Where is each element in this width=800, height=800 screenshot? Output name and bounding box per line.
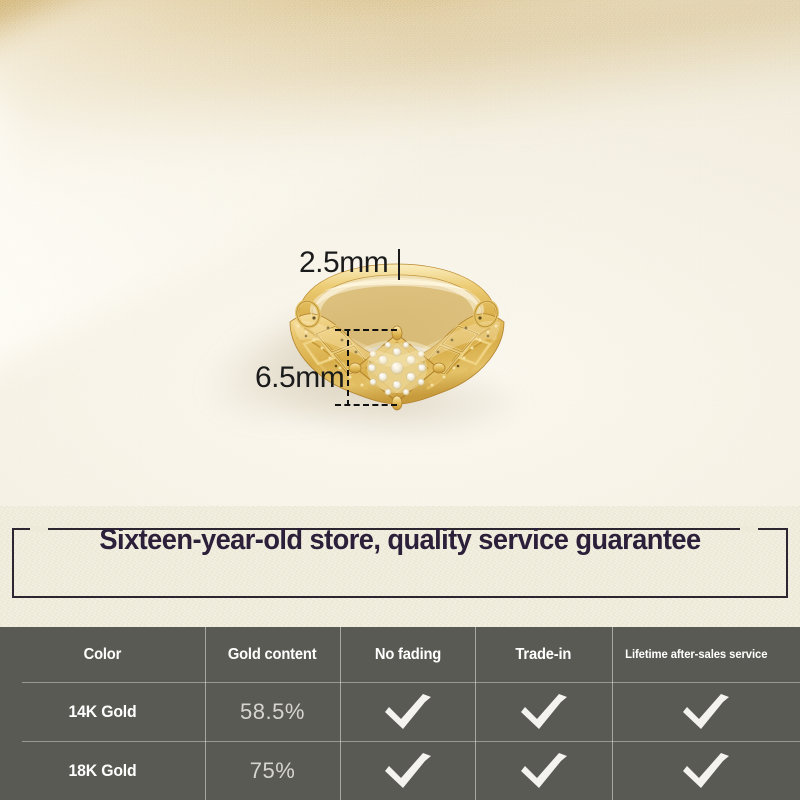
header-cell-gold-content: Gold content bbox=[205, 627, 340, 682]
gold-comparison-table: Color Gold content No fading Trade-in Li… bbox=[0, 627, 800, 800]
banner-headline: Sixteen-year-old store, quality service … bbox=[24, 524, 776, 557]
cell-lifetime-service-18k bbox=[612, 741, 800, 800]
header-cell-color: Color bbox=[0, 627, 205, 682]
header-label-gold-content: Gold content bbox=[228, 646, 317, 664]
cell-gold-content-18k: 75% bbox=[205, 741, 340, 800]
dimension-tick-width bbox=[398, 249, 400, 280]
cell-color-18k: 18K Gold bbox=[0, 741, 205, 800]
cell-gold-content-14k: 58.5% bbox=[205, 682, 340, 741]
check-mark-icon bbox=[518, 751, 570, 791]
header-label-trade-in: Trade-in bbox=[516, 646, 572, 664]
table-row: 18K Gold 75% bbox=[0, 741, 800, 800]
dimension-guide-vertical bbox=[347, 330, 349, 406]
check-mark-icon bbox=[680, 751, 732, 791]
cell-no-fading-14k bbox=[340, 682, 475, 741]
dimension-guide-bottom bbox=[335, 404, 397, 406]
header-cell-trade-in: Trade-in bbox=[475, 627, 612, 682]
row-label-14k: 14K Gold bbox=[69, 702, 137, 722]
check-mark-icon bbox=[518, 692, 570, 732]
header-label-color: Color bbox=[84, 646, 122, 664]
cell-trade-in-18k bbox=[475, 741, 612, 800]
table-header-row: Color Gold content No fading Trade-in Li… bbox=[0, 627, 800, 682]
cell-lifetime-service-14k bbox=[612, 682, 800, 741]
check-mark-icon bbox=[382, 751, 434, 791]
cell-no-fading-18k bbox=[340, 741, 475, 800]
product-photo: 2.5mm 6.5mm bbox=[0, 0, 800, 506]
header-cell-lifetime-service: Lifetime after-sales service bbox=[612, 627, 800, 682]
cell-trade-in-14k bbox=[475, 682, 612, 741]
dimension-label-height: 6.5mm bbox=[255, 361, 344, 395]
header-label-lifetime-service: Lifetime after-sales service bbox=[612, 647, 789, 662]
dimension-label-width: 2.5mm bbox=[299, 246, 388, 280]
table-row: 14K Gold 58.5% bbox=[0, 682, 800, 741]
header-cell-no-fading: No fading bbox=[340, 627, 475, 682]
header-label-no-fading: No fading bbox=[374, 646, 440, 664]
product-detail-page: 2.5mm 6.5mm Sixteen-year-old store, qual… bbox=[0, 0, 800, 800]
check-mark-icon bbox=[680, 692, 732, 732]
cell-color-14k: 14K Gold bbox=[0, 682, 205, 741]
comparison-table: Color Gold content No fading Trade-in Li… bbox=[0, 627, 800, 800]
check-mark-icon bbox=[382, 692, 434, 732]
value-gold-content-18k: 75% bbox=[250, 758, 296, 783]
row-label-18k: 18K Gold bbox=[69, 761, 137, 781]
ring-image bbox=[252, 248, 542, 438]
guarantee-banner: Sixteen-year-old store, quality service … bbox=[0, 506, 800, 627]
dimension-guide-top bbox=[335, 329, 397, 331]
ring-illustration bbox=[252, 248, 542, 438]
value-gold-content-14k: 58.5% bbox=[240, 699, 305, 724]
